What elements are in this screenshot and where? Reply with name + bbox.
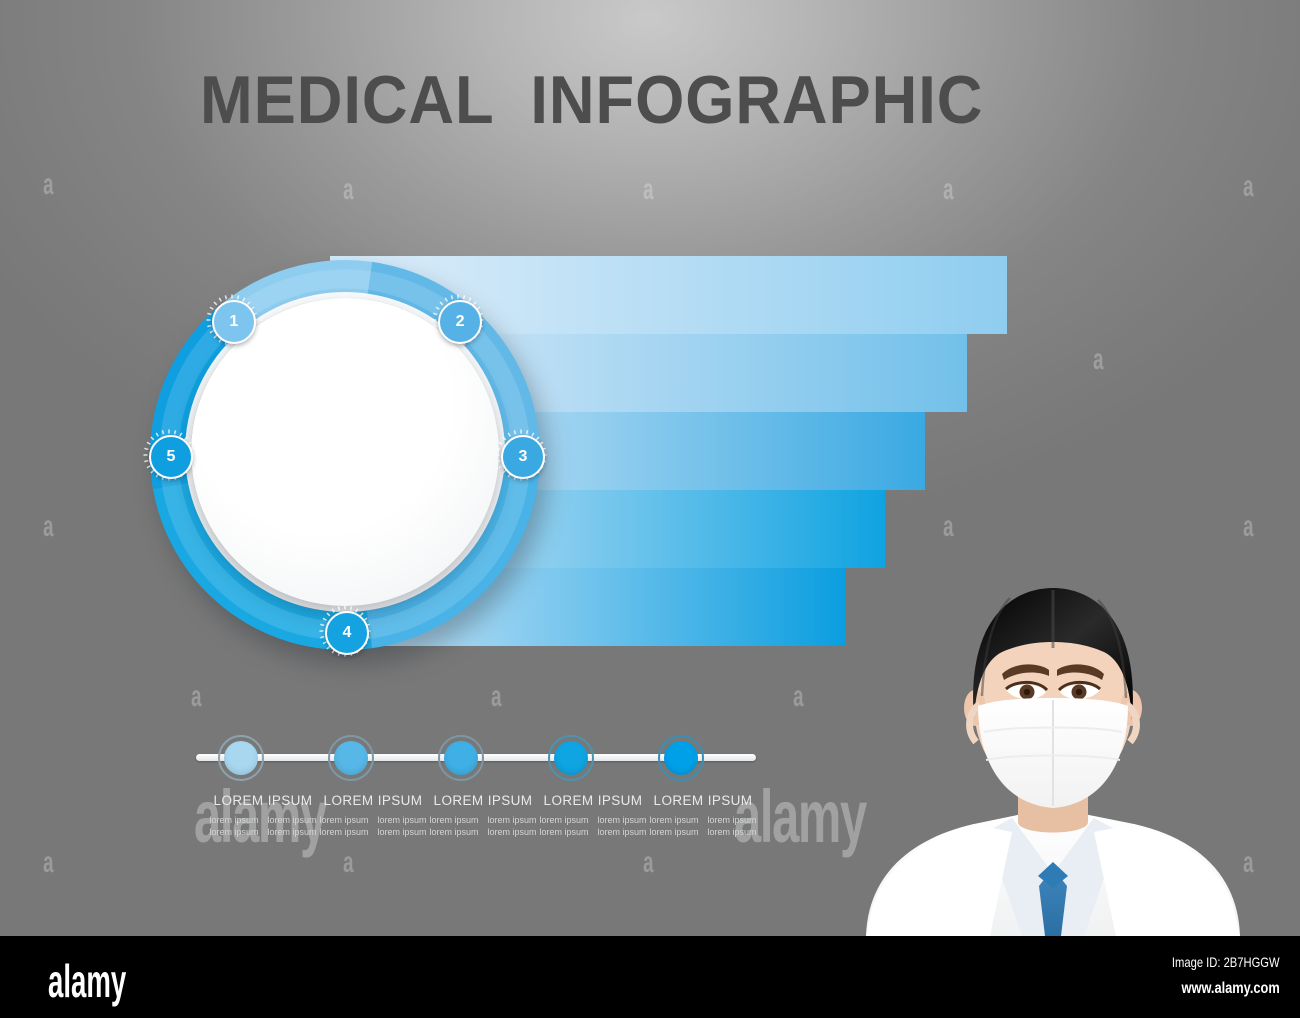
watermark-glyph: a (1093, 345, 1103, 375)
timeline: LOREM IPSUMlorem ipsumlorem ipsumlorem i… (196, 715, 756, 845)
page-title: MEDICAL INFOGRAPHIC (200, 66, 983, 134)
watermark-glyph: a (1243, 512, 1253, 542)
timeline-heading: LOREM IPSUM (208, 793, 318, 808)
infographic-canvas: aaaaaaaaaaaaaaaaaaaaaaaalamyalamyalamyal… (0, 0, 1300, 1018)
timeline-cell: lorem ipsum (428, 815, 480, 825)
watermark-glyph: a (643, 175, 653, 205)
timeline-cell: lorem ipsum (486, 827, 538, 837)
watermark-glyph: a (43, 512, 53, 542)
timeline-node-5[interactable] (658, 735, 704, 781)
timeline-node-3[interactable] (438, 735, 484, 781)
timeline-cell: lorem ipsum (266, 815, 318, 825)
watermark-glyph: a (793, 682, 803, 712)
timeline-cell: lorem ipsum (486, 815, 538, 825)
timeline-cell-grid: lorem ipsumlorem ipsumlorem ipsumlorem i… (538, 815, 648, 837)
timeline-node-dot (664, 741, 698, 775)
timeline-column-2: LOREM IPSUMlorem ipsumlorem ipsumlorem i… (318, 793, 428, 837)
timeline-cell: lorem ipsum (208, 827, 260, 837)
timeline-column-1: LOREM IPSUMlorem ipsumlorem ipsumlorem i… (208, 793, 318, 837)
timeline-column-4: LOREM IPSUMlorem ipsumlorem ipsumlorem i… (538, 793, 648, 837)
watermark-glyph: a (491, 682, 501, 712)
timeline-cell-grid: lorem ipsumlorem ipsumlorem ipsumlorem i… (428, 815, 538, 837)
pupil-left (1024, 689, 1030, 695)
lapel-right (1094, 824, 1240, 936)
timeline-cell-grid: lorem ipsumlorem ipsumlorem ipsumlorem i… (208, 815, 318, 837)
timeline-heading: LOREM IPSUM (648, 793, 758, 808)
timeline-heading: LOREM IPSUM (318, 793, 428, 808)
image-id-label: Image ID: 2B7HGGW (1172, 954, 1280, 970)
watermark-glyph: a (1243, 172, 1253, 202)
timeline-cell: lorem ipsum (596, 815, 648, 825)
watermark-glyph: a (943, 175, 953, 205)
marker-number: 2 (438, 300, 482, 344)
watermark-glyph: a (343, 848, 353, 878)
timeline-cell: lorem ipsum (208, 815, 260, 825)
marker-number: 3 (501, 435, 545, 479)
timeline-node-dot (224, 741, 258, 775)
timeline-column-5: LOREM IPSUMlorem ipsumlorem ipsumlorem i… (648, 793, 758, 837)
watermark-glyph: a (343, 175, 353, 205)
watermark-glyph: a (43, 848, 53, 878)
timeline-column-3: LOREM IPSUMlorem ipsumlorem ipsumlorem i… (428, 793, 538, 837)
timeline-cell: lorem ipsum (266, 827, 318, 837)
artboard: aaaaaaaaaaaaaaaaaaaaaaaalamyalamyalamyal… (0, 0, 1300, 936)
watermark-glyph: a (43, 170, 53, 200)
donut-marker-3[interactable]: 3 (495, 429, 547, 481)
timeline-node-4[interactable] (548, 735, 594, 781)
timeline-cell: lorem ipsum (648, 815, 700, 825)
doctor-illustration (862, 556, 1244, 936)
timeline-cell: lorem ipsum (538, 827, 590, 837)
marker-number: 5 (149, 435, 193, 479)
watermark-glyph: a (643, 848, 653, 878)
timeline-cell: lorem ipsum (706, 827, 758, 837)
timeline-node-2[interactable] (328, 735, 374, 781)
timeline-heading: LOREM IPSUM (538, 793, 648, 808)
alamy-footer: alamy Image ID: 2B7HGGW www.alamy.com (0, 936, 1300, 1018)
alamy-url: www.alamy.com (1182, 980, 1280, 998)
timeline-cell-grid: lorem ipsumlorem ipsumlorem ipsumlorem i… (318, 815, 428, 837)
timeline-cell: lorem ipsum (648, 827, 700, 837)
timeline-node-1[interactable] (218, 735, 264, 781)
donut-marker-1[interactable]: 1 (206, 294, 258, 346)
timeline-cell: lorem ipsum (376, 815, 428, 825)
timeline-node-dot (444, 741, 478, 775)
timeline-cell: lorem ipsum (706, 815, 758, 825)
donut-marker-2[interactable]: 2 (432, 294, 484, 346)
marker-number: 1 (212, 300, 256, 344)
timeline-cell: lorem ipsum (318, 827, 370, 837)
watermark-glyph: a (943, 512, 953, 542)
pupil-right (1076, 689, 1082, 695)
lapel-left (866, 824, 1012, 936)
timeline-cell-grid: lorem ipsumlorem ipsumlorem ipsumlorem i… (648, 815, 758, 837)
timeline-node-dot (334, 741, 368, 775)
timeline-node-dot (554, 741, 588, 775)
timeline-cell: lorem ipsum (538, 815, 590, 825)
watermark-glyph: a (191, 682, 201, 712)
donut-marker-4[interactable]: 4 (319, 605, 371, 657)
alamy-logo: alamy (48, 954, 126, 1008)
timeline-cell: lorem ipsum (376, 827, 428, 837)
watermark-glyph: a (1243, 848, 1253, 878)
donut-marker-5[interactable]: 5 (143, 429, 195, 481)
timeline-cell: lorem ipsum (428, 827, 480, 837)
timeline-cell: lorem ipsum (318, 815, 370, 825)
marker-number: 4 (325, 611, 369, 655)
timeline-cell: lorem ipsum (596, 827, 648, 837)
timeline-heading: LOREM IPSUM (428, 793, 538, 808)
